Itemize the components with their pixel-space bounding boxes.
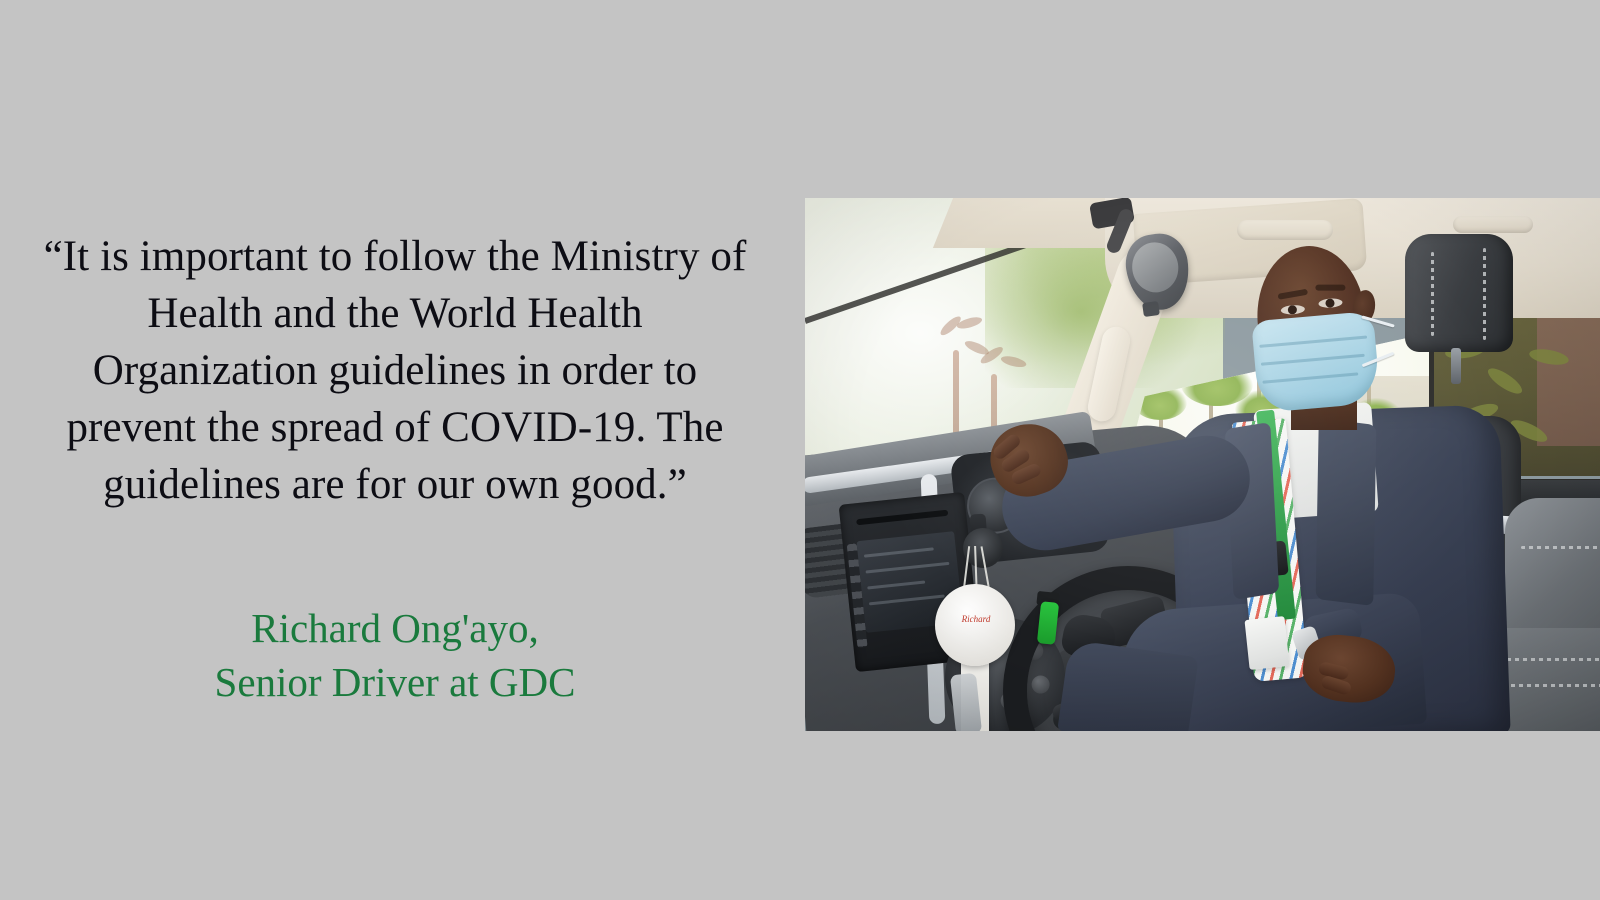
driver-figure bbox=[805, 198, 1600, 731]
photo-composition: Richard bbox=[805, 198, 1600, 731]
quote-line-2: Health and the World Health bbox=[0, 285, 790, 342]
eye bbox=[1281, 304, 1306, 315]
mask-pleat bbox=[1259, 335, 1367, 347]
mask-pleat bbox=[1261, 354, 1365, 366]
quote-line-3: Organization guidelines in order to bbox=[0, 342, 790, 399]
quote-line-1: “It is important to follow the Ministry … bbox=[0, 228, 790, 285]
jacket-lapel-right bbox=[1316, 418, 1377, 606]
finger bbox=[1320, 674, 1353, 696]
eyebrow bbox=[1277, 289, 1308, 300]
mask-pleat bbox=[1262, 372, 1358, 383]
id-badge bbox=[1244, 616, 1289, 670]
attribution-role: Senior Driver at GDC bbox=[0, 655, 790, 709]
attribution-block: Richard Ong'ayo, Senior Driver at GDC bbox=[0, 513, 790, 709]
surgical-mask bbox=[1251, 311, 1381, 413]
slide-canvas: “It is important to follow the Ministry … bbox=[0, 0, 1600, 900]
eye bbox=[1318, 298, 1343, 309]
quote-panel: “It is important to follow the Ministry … bbox=[0, 228, 790, 709]
quote-line-5: guidelines are for our own good.” bbox=[0, 456, 790, 513]
driver-photo: Richard bbox=[805, 198, 1600, 731]
quote-line-4: prevent the spread of COVID-19. The bbox=[0, 399, 790, 456]
eyebrow bbox=[1315, 285, 1345, 291]
attribution-name: Richard Ong'ayo, bbox=[0, 601, 790, 655]
